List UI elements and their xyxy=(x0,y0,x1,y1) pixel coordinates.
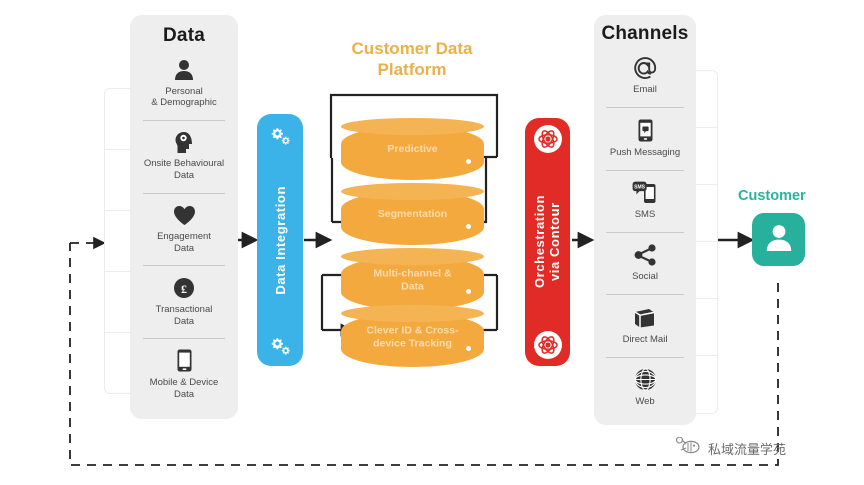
channel-item-label: Direct Mail xyxy=(623,334,668,346)
platform-cylinder-predictive[interactable]: Predictive xyxy=(341,118,484,180)
globe-icon xyxy=(634,368,657,392)
cylinder-dot-icon xyxy=(466,224,471,229)
platform-title: Customer Data Platform xyxy=(322,38,502,81)
heart-icon xyxy=(173,203,196,227)
mobile-phone-icon xyxy=(177,349,192,373)
data-item-label: TransactionalData xyxy=(156,304,213,328)
orchestration-pill[interactable]: Orchestrationvia Contour xyxy=(525,118,570,366)
platform-title-line2: Platform xyxy=(378,60,447,79)
data-item-label: Personal& Demographic xyxy=(151,86,216,110)
atom-icon xyxy=(533,330,563,360)
gears-icon xyxy=(265,330,295,360)
platform-cylinder-segmentation[interactable]: Segmentation xyxy=(341,183,484,245)
cylinder-top xyxy=(341,183,484,200)
mail-envelope-icon xyxy=(633,306,657,330)
channel-item-email[interactable]: Email xyxy=(594,45,696,107)
person-icon xyxy=(174,58,194,82)
data-item-label: Mobile & DeviceData xyxy=(150,377,219,401)
diagram-canvas: Data Personal& Demographic Onsite Behavi… xyxy=(0,0,864,485)
bee-icon xyxy=(672,437,702,459)
gears-icon xyxy=(265,120,295,150)
channel-item-label: Push Messaging xyxy=(610,147,680,159)
user-avatar-icon xyxy=(764,222,794,257)
channel-item-label: Web xyxy=(635,396,654,408)
cylinder-top xyxy=(341,248,484,265)
orchestration-label: Orchestrationvia Contour xyxy=(533,195,563,288)
platform-title-line1: Customer Data xyxy=(352,39,473,58)
at-sign-icon xyxy=(634,56,657,80)
pound-coin-icon: £ xyxy=(173,276,195,300)
cylinder-label: Segmentation xyxy=(341,208,484,221)
svg-text:£: £ xyxy=(181,282,187,296)
data-item-transactional[interactable]: £ TransactionalData xyxy=(130,265,238,338)
channels-column: Channels Email Push Messaging SMS SMS xyxy=(594,15,696,425)
data-item-label: Onsite BehaviouralData xyxy=(144,158,224,182)
watermark-text: 私域流量学苑 xyxy=(708,439,786,458)
platform-cylinder-clever-id[interactable]: Clever ID & Cross-device Tracking xyxy=(341,305,484,367)
watermark: 私域流量学苑 xyxy=(672,437,786,459)
data-column: Data Personal& Demographic Onsite Behavi… xyxy=(130,15,238,419)
cylinder-label: Clever ID & Cross-device Tracking xyxy=(341,324,484,349)
data-column-title: Data xyxy=(163,25,205,47)
push-phone-icon xyxy=(638,119,653,143)
customer-box[interactable] xyxy=(752,213,805,266)
platform-cylinder-multi-channel[interactable]: Multi-channel &Data xyxy=(341,248,484,310)
channels-bracket-ladder xyxy=(694,70,718,414)
cylinder-top xyxy=(341,305,484,322)
channel-item-label: Email xyxy=(633,84,657,96)
channel-item-label: Social xyxy=(632,271,658,283)
data-item-onsite-behavioural[interactable]: Onsite BehaviouralData xyxy=(130,120,238,193)
cylinder-label: Predictive xyxy=(341,143,484,156)
sms-icon: SMS xyxy=(632,181,658,205)
channel-item-push-messaging[interactable]: Push Messaging xyxy=(594,107,696,169)
data-item-mobile-device[interactable]: Mobile & DeviceData xyxy=(130,338,238,411)
cylinder-dot-icon xyxy=(466,159,471,164)
channel-item-label: SMS xyxy=(635,209,656,221)
data-integration-pill[interactable]: Data Integration xyxy=(257,114,303,366)
channels-column-items: Email Push Messaging SMS SMS Social xyxy=(594,45,696,419)
data-bracket-ladder xyxy=(104,88,130,394)
share-nodes-icon xyxy=(634,243,657,267)
svg-text:SMS: SMS xyxy=(634,185,646,191)
channel-item-sms[interactable]: SMS SMS xyxy=(594,170,696,232)
data-item-personal[interactable]: Personal& Demographic xyxy=(130,47,238,120)
atom-icon xyxy=(533,124,563,154)
cylinder-dot-icon xyxy=(466,346,471,351)
cylinder-dot-icon xyxy=(466,289,471,294)
customer-label: Customer xyxy=(738,188,806,204)
cylinder-top xyxy=(341,118,484,135)
channel-item-social[interactable]: Social xyxy=(594,232,696,294)
data-integration-label: Data Integration xyxy=(273,186,288,295)
data-item-label: EngagementData xyxy=(157,231,211,255)
channels-column-title: Channels xyxy=(601,23,688,45)
data-column-items: Personal& Demographic Onsite Behavioural… xyxy=(130,47,238,411)
channel-item-direct-mail[interactable]: Direct Mail xyxy=(594,294,696,356)
head-gear-icon xyxy=(174,130,194,154)
data-item-engagement[interactable]: EngagementData xyxy=(130,193,238,266)
channel-item-web[interactable]: Web xyxy=(594,357,696,419)
cylinder-label: Multi-channel &Data xyxy=(341,267,484,292)
